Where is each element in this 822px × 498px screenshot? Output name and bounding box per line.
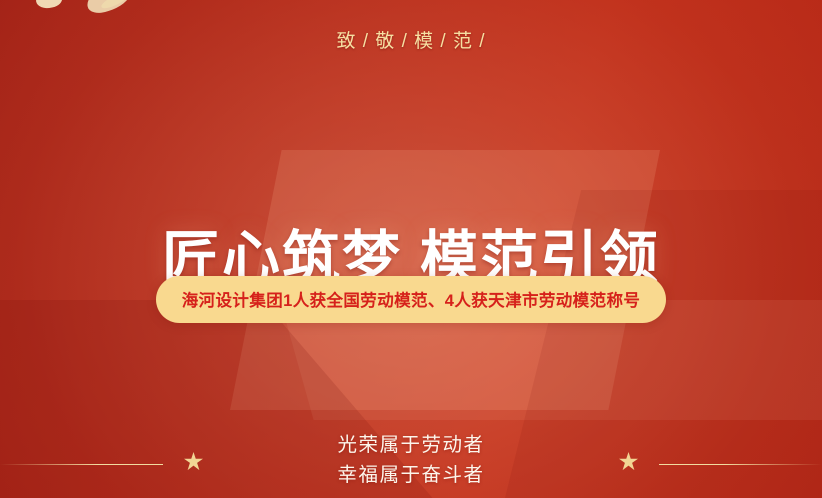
subtitle-pill: 海河设计集团1人获全国劳动模范、4人获天津市劳动模范称号 xyxy=(156,276,667,323)
tagline-block: 光荣属于劳动者 幸福属于奋斗者 xyxy=(0,430,822,490)
tagline-line-1: 光荣属于劳动者 xyxy=(0,430,822,460)
banner-content: 致 / 敬 / 模 / 范 / 匠心筑梦 模范引领 海河设计集团1人获全国劳动模… xyxy=(0,0,822,498)
tagline-line-2: 幸福属于奋斗者 xyxy=(0,460,822,490)
celebration-banner: 致 / 敬 / 模 / 范 / 匠心筑梦 模范引领 海河设计集团1人获全国劳动模… xyxy=(0,0,822,498)
eyebrow-text: 致 / 敬 / 模 / 范 / xyxy=(0,26,822,53)
subtitle-container: 海河设计集团1人获全国劳动模范、4人获天津市劳动模范称号 xyxy=(0,276,822,323)
